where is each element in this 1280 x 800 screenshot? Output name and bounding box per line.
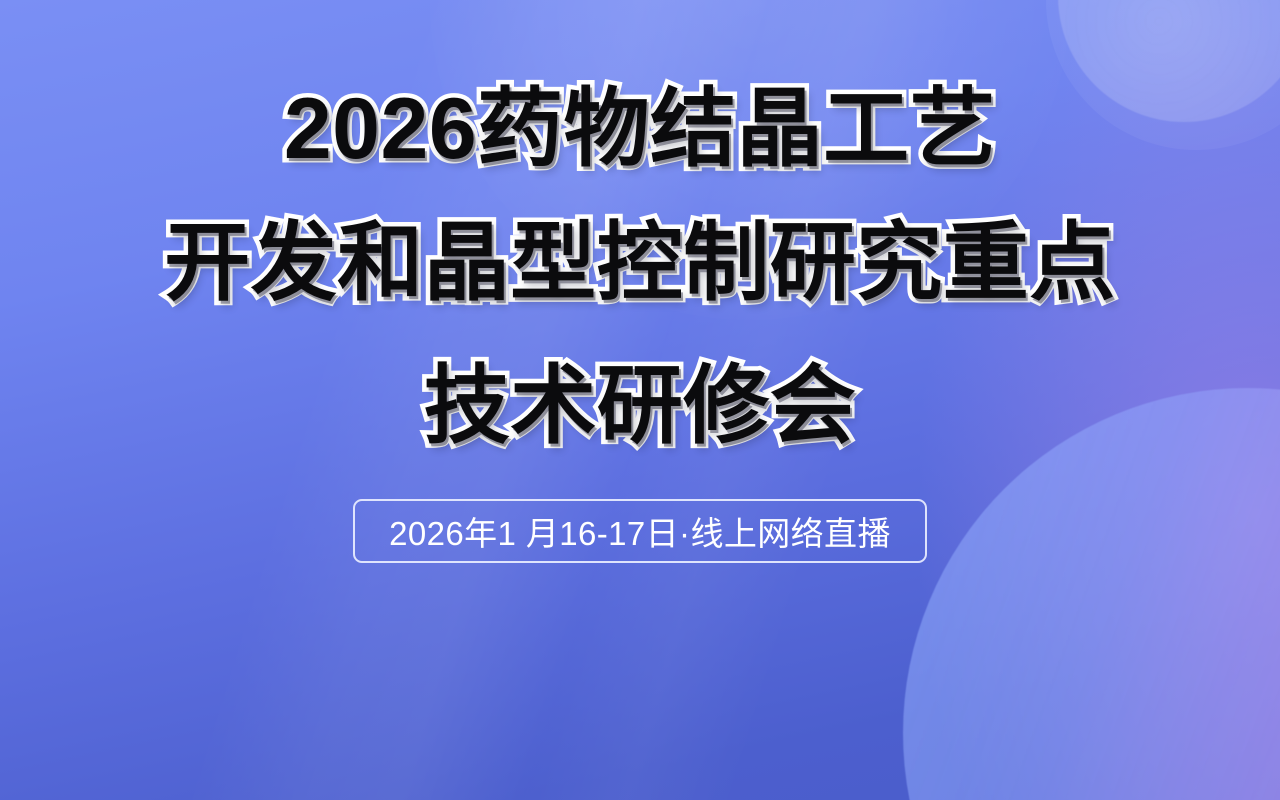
title-line-3: 技术研修会	[0, 363, 1280, 451]
title-line-1: 2026药物结晶工艺	[0, 86, 1280, 174]
poster-title: 2026药物结晶工艺 开发和晶型控制研究重点 技术研修会	[0, 86, 1280, 451]
date-location-badge: 2026年1 月16-17日·线上网络直播	[353, 499, 927, 563]
poster-content: 2026药物结晶工艺 开发和晶型控制研究重点 技术研修会 2026年1 月16-…	[0, 0, 1280, 800]
title-line-2: 开发和晶型控制研究重点	[0, 220, 1280, 308]
event-poster: 2026药物结晶工艺 开发和晶型控制研究重点 技术研修会 2026年1 月16-…	[0, 0, 1280, 800]
